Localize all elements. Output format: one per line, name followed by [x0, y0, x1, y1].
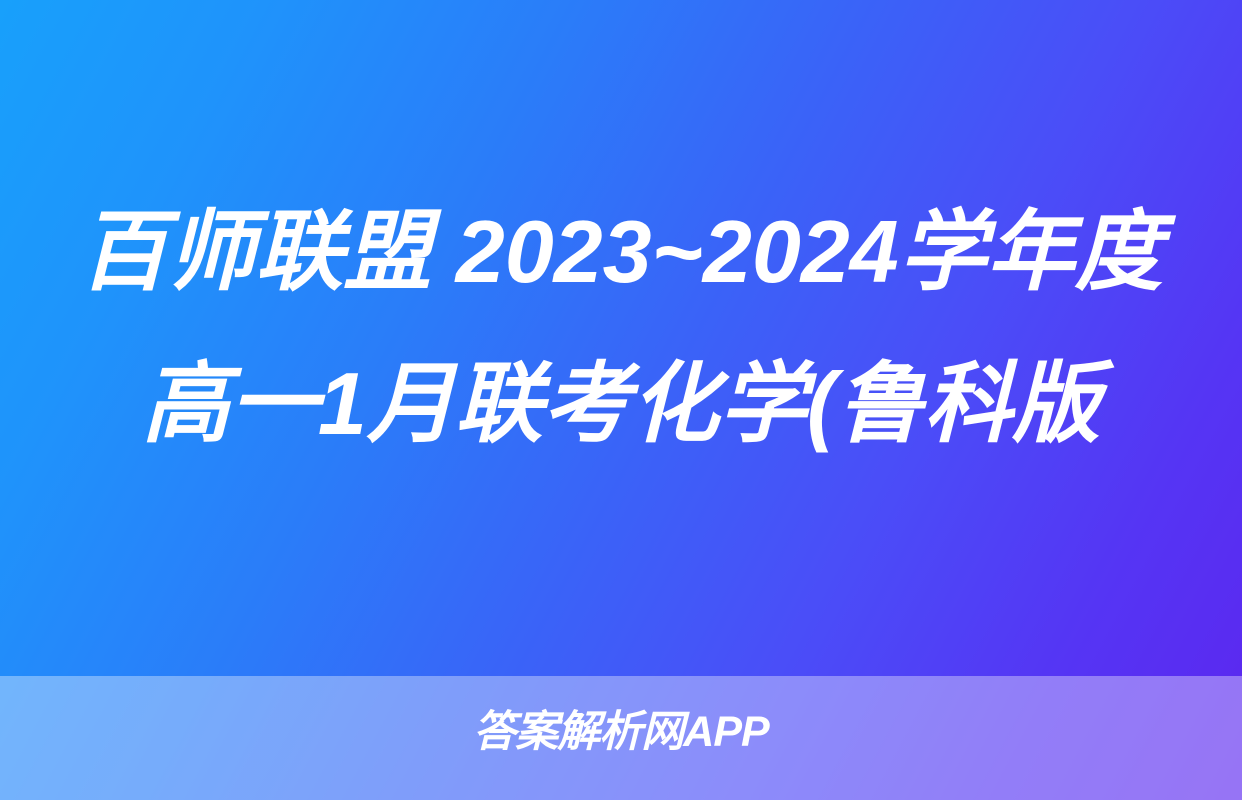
watermark-label: 答案解析网APP: [473, 706, 768, 758]
share-card: 百师联盟 2023~2024学年度高一1月联考化学(鲁科版 答案解析网APP: [0, 0, 1242, 800]
watermark: 答案解析网APP: [0, 706, 1242, 758]
title-block: 百师联盟 2023~2024学年度高一1月联考化学(鲁科版: [0, 176, 1242, 480]
page-title: 百师联盟 2023~2024学年度高一1月联考化学(鲁科版: [78, 176, 1164, 480]
